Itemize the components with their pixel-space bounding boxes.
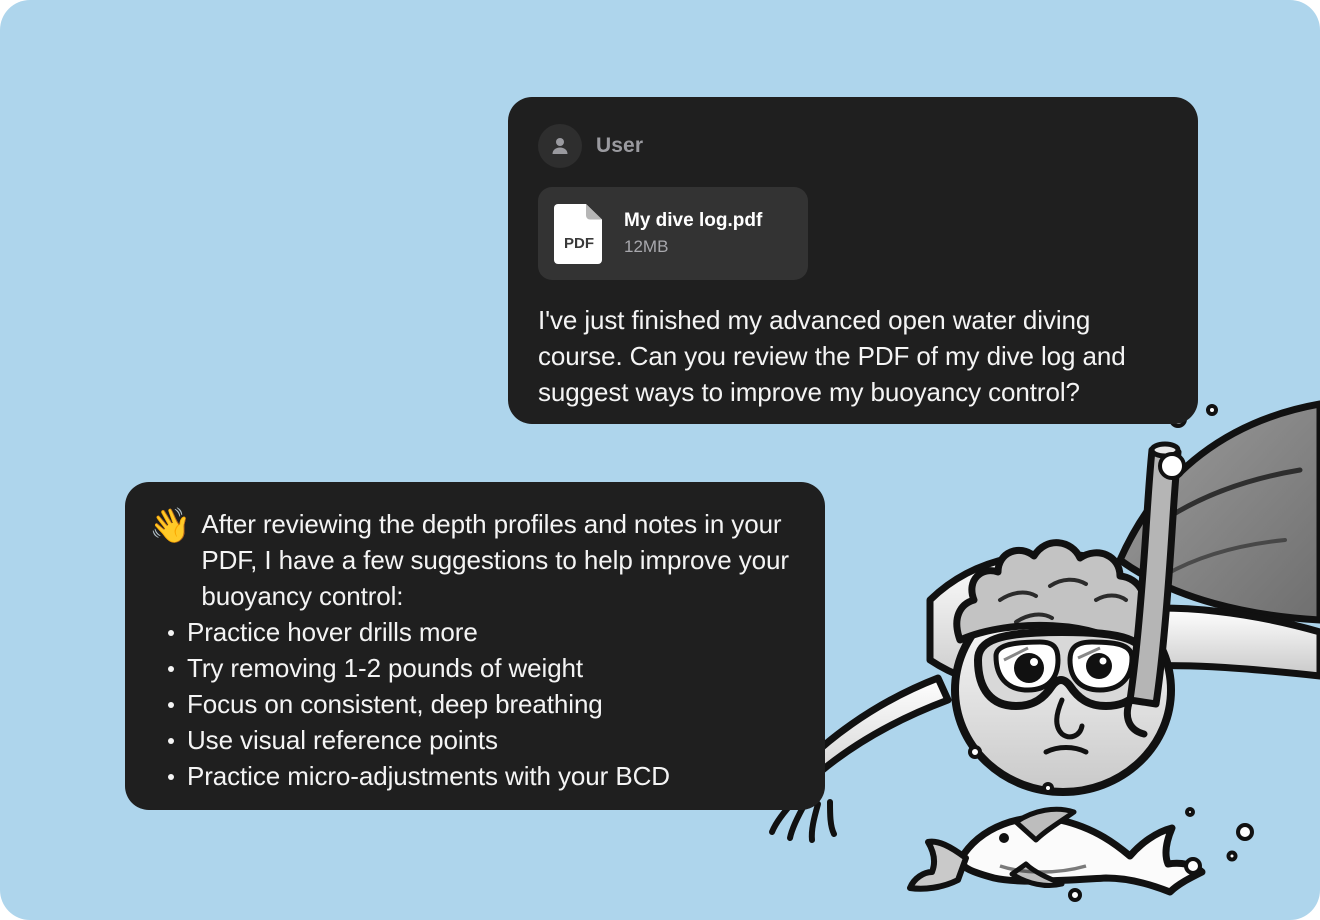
air-bubbles [970, 385, 1252, 900]
user-message-text: I've just finished my advanced open wate… [538, 302, 1168, 410]
attachment-card[interactable]: PDF My dive log.pdf 12MB [538, 187, 808, 280]
user-message-bubble: User PDF My dive log.pdf 12MB I've just … [508, 97, 1198, 424]
message-author: User [596, 134, 643, 158]
message-header: User [538, 123, 1168, 169]
list-item: Focus on consistent, deep breathing [149, 686, 797, 722]
person-icon [538, 124, 582, 168]
fish-figure [910, 809, 1202, 892]
snorkeler-figure [772, 404, 1320, 840]
pdf-badge-label: PDF [564, 235, 594, 252]
attachment-file-size: 12MB [624, 237, 762, 257]
assistant-message-bubble: 👋 After reviewing the depth profiles and… [125, 482, 825, 810]
attachment-file-name: My dive log.pdf [624, 210, 762, 232]
assistant-intro-text: After reviewing the depth profiles and n… [201, 506, 797, 614]
screenshot-canvas: User PDF My dive log.pdf 12MB I've just … [0, 0, 1320, 920]
waving-hand-emoji: 👋 [149, 508, 191, 544]
pdf-file-icon: PDF [552, 200, 608, 268]
list-item: Practice micro-adjustments with your BCD [149, 758, 797, 794]
list-item: Practice hover drills more [149, 614, 797, 650]
list-item: Use visual reference points [149, 722, 797, 758]
suggestion-list: Practice hover drills more Try removing … [149, 614, 797, 794]
list-item: Try removing 1-2 pounds of weight [149, 650, 797, 686]
